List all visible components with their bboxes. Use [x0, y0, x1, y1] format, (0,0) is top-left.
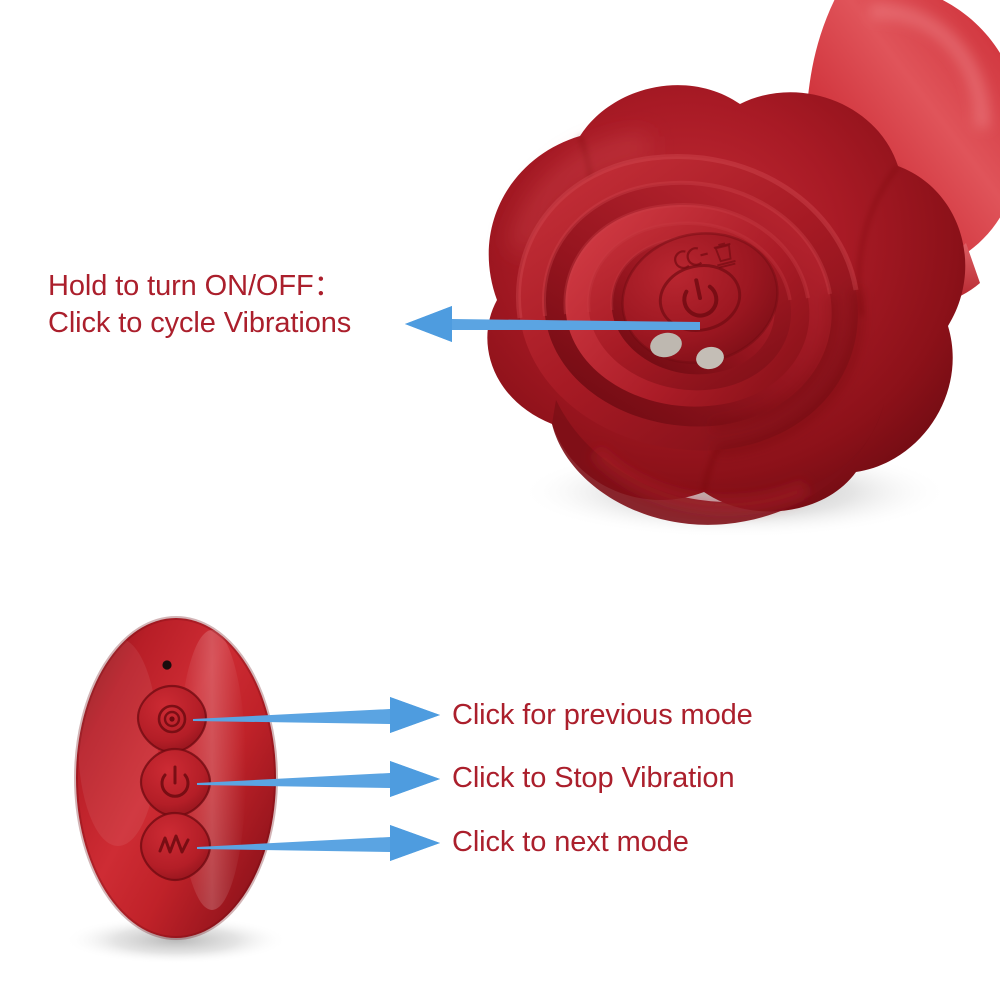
annotation-rose-button: Hold to turn ON/OFF： Click to cycle Vibr… — [48, 268, 351, 342]
annotation-previous-mode: Click for previous mode — [452, 697, 753, 734]
rose-toy-illustration — [487, 0, 1000, 538]
annotation-stop-vibration: Click to Stop Vibration — [452, 760, 734, 797]
annotation-next-mode: Click to next mode — [452, 824, 689, 861]
annotation-rose-line2: Click to cycle Vibrations — [48, 305, 351, 342]
remote-illustration — [64, 618, 288, 964]
remote-button-wave[interactable] — [141, 813, 210, 880]
annotation-rose-line1: Hold to turn ON/OFF： — [48, 270, 343, 302]
remote-led-indicator — [162, 660, 171, 669]
infographic-canvas: Hold to turn ON/OFF： Click to cycle Vibr… — [0, 0, 1000, 1000]
remote-button-power[interactable] — [141, 749, 210, 816]
